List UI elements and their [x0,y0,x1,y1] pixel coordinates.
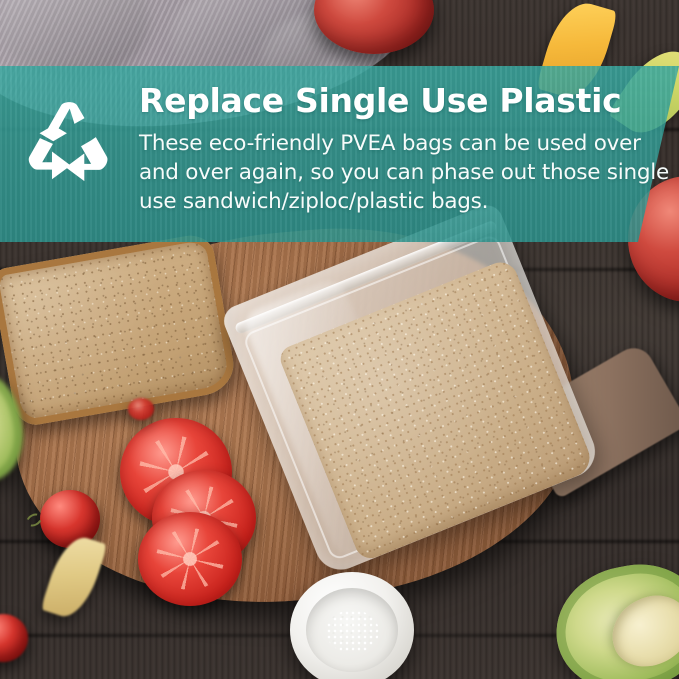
banner-body-line-2: and over again, so you can phase out tho… [139,158,639,187]
promo-banner-content: Replace Single Use Plastic These eco-fri… [0,66,679,242]
banner-body-text: These eco-friendly PVEA bags can be used… [139,129,639,216]
banner-body-line-3: use sandwich/ziploc/plastic bags. [139,187,639,216]
tomato-slice [128,398,154,420]
product-infographic: Replace Single Use Plastic These eco-fri… [0,0,679,679]
salt-bowl [290,572,414,679]
salt-grains [326,610,379,653]
tomato-slice [138,512,242,606]
banner-body-line-1: These eco-friendly PVEA bags can be used… [139,129,639,158]
banner-headline: Replace Single Use Plastic [139,84,621,117]
recycle-icon [18,92,122,196]
